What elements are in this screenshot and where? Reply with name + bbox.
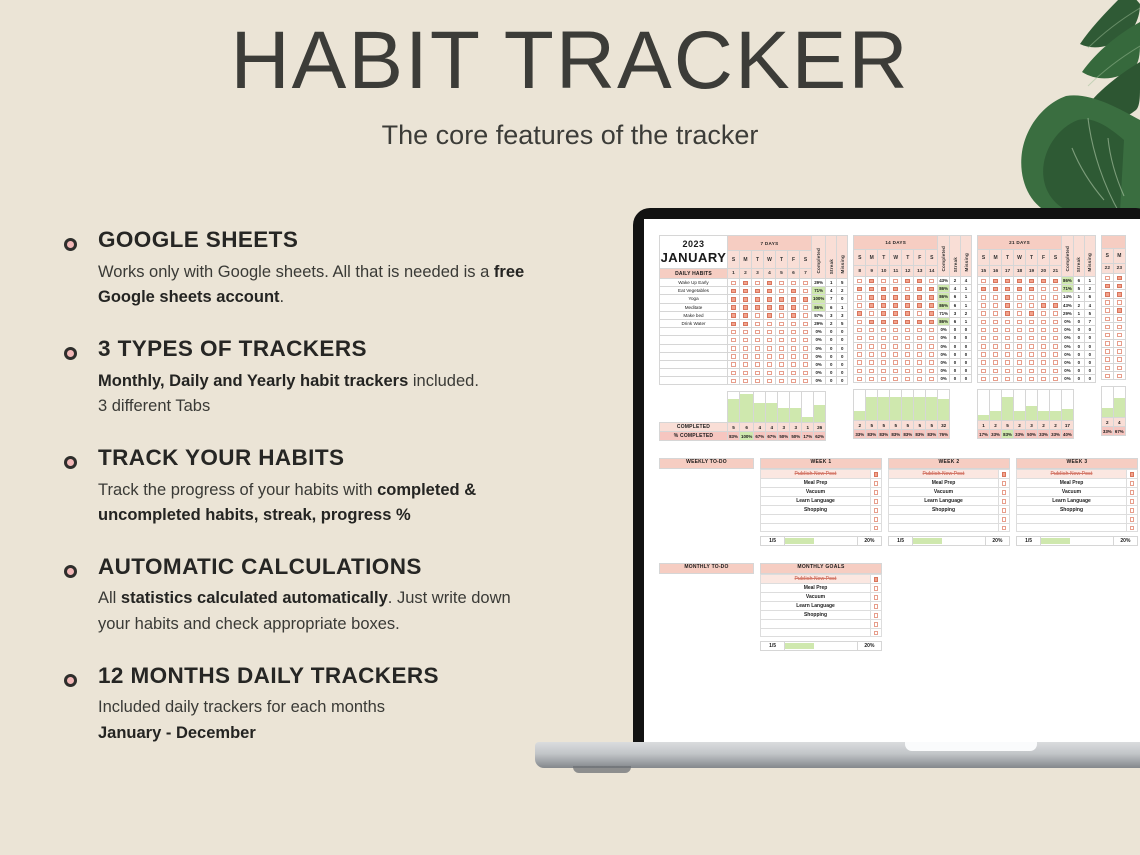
habit-checkbox-cell[interactable] xyxy=(1101,314,1113,322)
checkbox-icon[interactable] xyxy=(917,295,922,300)
habit-checkbox-cell[interactable] xyxy=(788,279,800,287)
habit-checkbox-cell[interactable] xyxy=(728,311,740,319)
checkbox-icon[interactable] xyxy=(1105,366,1110,371)
checkbox-icon[interactable] xyxy=(791,297,796,302)
habit-checkbox-cell[interactable] xyxy=(1002,326,1014,334)
habit-checkbox-cell[interactable] xyxy=(1002,285,1014,293)
checkbox-icon[interactable] xyxy=(1005,328,1010,333)
checkbox-icon[interactable] xyxy=(929,295,934,300)
habit-checkbox-cell[interactable] xyxy=(728,287,740,295)
checkbox-icon[interactable] xyxy=(1105,325,1110,330)
checkbox-icon[interactable] xyxy=(791,379,796,384)
checkbox-icon[interactable] xyxy=(1117,284,1122,289)
habit-checkbox-cell[interactable] xyxy=(776,295,788,303)
habit-checkbox-cell[interactable] xyxy=(1002,375,1014,383)
habit-checkbox-cell[interactable] xyxy=(990,293,1002,301)
habit-checkbox-cell[interactable] xyxy=(776,352,788,360)
habit-checkbox-cell[interactable] xyxy=(752,328,764,336)
checkbox-icon[interactable] xyxy=(767,289,772,294)
habit-checkbox-cell[interactable] xyxy=(776,369,788,377)
checkbox-icon[interactable] xyxy=(755,346,760,351)
checkbox-icon[interactable] xyxy=(1053,369,1058,374)
habit-checkbox-cell[interactable] xyxy=(740,319,752,327)
checkbox-icon[interactable] xyxy=(905,287,910,292)
habit-checkbox-cell[interactable] xyxy=(1002,367,1014,375)
checkbox-icon[interactable] xyxy=(881,295,886,300)
checkbox-icon[interactable] xyxy=(874,508,879,513)
habit-checkbox-cell[interactable] xyxy=(1014,285,1026,293)
checkbox-icon[interactable] xyxy=(869,320,874,325)
checkbox-icon[interactable] xyxy=(993,295,998,300)
habit-checkbox-cell[interactable] xyxy=(1014,277,1026,285)
checkbox-icon[interactable] xyxy=(803,354,808,359)
checkbox-icon[interactable] xyxy=(1029,295,1034,300)
habit-checkbox-cell[interactable] xyxy=(1050,358,1062,366)
checkbox-icon[interactable] xyxy=(1053,311,1058,316)
habit-checkbox-cell[interactable] xyxy=(914,326,926,334)
checkbox-icon[interactable] xyxy=(1017,369,1022,374)
habit-checkbox-cell[interactable] xyxy=(788,287,800,295)
habit-checkbox-cell[interactable] xyxy=(764,336,776,344)
todo-item-text[interactable]: Meal Prep xyxy=(761,584,871,593)
habit-checkbox-cell[interactable] xyxy=(728,295,740,303)
todo-item-empty[interactable] xyxy=(761,620,871,629)
habit-checkbox-cell[interactable] xyxy=(800,369,812,377)
checkbox-icon[interactable] xyxy=(893,303,898,308)
habit-checkbox-cell[interactable] xyxy=(740,352,752,360)
habit-checkbox-cell[interactable] xyxy=(764,303,776,311)
habit-checkbox-cell[interactable] xyxy=(1113,339,1125,347)
checkbox-icon[interactable] xyxy=(857,295,862,300)
checkbox-icon[interactable] xyxy=(1053,303,1058,308)
habit-checkbox-cell[interactable] xyxy=(1026,334,1038,342)
habit-checkbox-cell[interactable] xyxy=(914,358,926,366)
habit-checkbox-cell[interactable] xyxy=(1038,309,1050,317)
checkbox-icon[interactable] xyxy=(1017,360,1022,365)
checkbox-icon[interactable] xyxy=(857,287,862,292)
habit-checkbox-cell[interactable] xyxy=(926,301,938,309)
checkbox-icon[interactable] xyxy=(791,330,796,335)
todo-item-empty[interactable] xyxy=(1017,515,1127,524)
checkbox-icon[interactable] xyxy=(743,289,748,294)
habit-checkbox-cell[interactable] xyxy=(878,326,890,334)
checkbox-icon[interactable] xyxy=(893,320,898,325)
checkbox-icon[interactable] xyxy=(755,330,760,335)
checkbox-icon[interactable] xyxy=(893,287,898,292)
todo-checkbox-cell[interactable] xyxy=(999,515,1010,524)
checkbox-icon[interactable] xyxy=(929,360,934,365)
habit-checkbox-cell[interactable] xyxy=(1101,323,1113,331)
habit-checkbox-cell[interactable] xyxy=(978,342,990,350)
habit-checkbox-cell[interactable] xyxy=(878,277,890,285)
checkbox-icon[interactable] xyxy=(869,369,874,374)
todo-item-text[interactable]: Vacuum xyxy=(761,593,871,602)
habit-checkbox-cell[interactable] xyxy=(1002,334,1014,342)
habit-checkbox-cell[interactable] xyxy=(890,317,902,325)
habit-checkbox-cell[interactable] xyxy=(776,344,788,352)
checkbox-icon[interactable] xyxy=(1017,279,1022,284)
habit-checkbox-cell[interactable] xyxy=(1038,301,1050,309)
todo-checkbox-cell[interactable] xyxy=(871,497,882,506)
checkbox-icon[interactable] xyxy=(755,362,760,367)
checkbox-icon[interactable] xyxy=(1041,369,1046,374)
checkbox-icon[interactable] xyxy=(893,336,898,341)
todo-item-text[interactable]: Meal Prep xyxy=(1017,479,1127,488)
habit-checkbox-cell[interactable] xyxy=(1038,375,1050,383)
checkbox-icon[interactable] xyxy=(779,313,784,318)
checkbox-icon[interactable] xyxy=(881,377,886,382)
checkbox-icon[interactable] xyxy=(755,305,760,310)
habit-name-empty[interactable] xyxy=(660,328,728,336)
checkbox-icon[interactable] xyxy=(1029,369,1034,374)
checkbox-icon[interactable] xyxy=(893,352,898,357)
habit-checkbox-cell[interactable] xyxy=(764,360,776,368)
habit-checkbox-cell[interactable] xyxy=(854,367,866,375)
checkbox-icon[interactable] xyxy=(755,354,760,359)
checkbox-icon[interactable] xyxy=(1002,490,1007,495)
habit-checkbox-cell[interactable] xyxy=(1026,358,1038,366)
habit-checkbox-cell[interactable] xyxy=(914,293,926,301)
habit-checkbox-cell[interactable] xyxy=(740,328,752,336)
checkbox-icon[interactable] xyxy=(857,320,862,325)
habit-checkbox-cell[interactable] xyxy=(866,277,878,285)
habit-checkbox-cell[interactable] xyxy=(1014,342,1026,350)
checkbox-icon[interactable] xyxy=(1130,490,1135,495)
checkbox-icon[interactable] xyxy=(1053,352,1058,357)
habit-checkbox-cell[interactable] xyxy=(1026,367,1038,375)
checkbox-icon[interactable] xyxy=(929,303,934,308)
checkbox-icon[interactable] xyxy=(731,354,736,359)
checkbox-icon[interactable] xyxy=(731,322,736,327)
habit-checkbox-cell[interactable] xyxy=(776,319,788,327)
habit-checkbox-cell[interactable] xyxy=(1026,375,1038,383)
habit-checkbox-cell[interactable] xyxy=(728,377,740,385)
checkbox-icon[interactable] xyxy=(1029,360,1034,365)
habit-checkbox-cell[interactable] xyxy=(926,358,938,366)
checkbox-icon[interactable] xyxy=(1053,344,1058,349)
checkbox-icon[interactable] xyxy=(767,297,772,302)
habit-checkbox-cell[interactable] xyxy=(1050,301,1062,309)
checkbox-icon[interactable] xyxy=(731,330,736,335)
todo-item-text[interactable]: Meal Prep xyxy=(761,479,871,488)
habit-checkbox-cell[interactable] xyxy=(740,279,752,287)
checkbox-icon[interactable] xyxy=(993,336,998,341)
checkbox-icon[interactable] xyxy=(731,281,736,286)
checkbox-icon[interactable] xyxy=(767,354,772,359)
checkbox-icon[interactable] xyxy=(869,279,874,284)
habit-checkbox-cell[interactable] xyxy=(914,350,926,358)
habit-checkbox-cell[interactable] xyxy=(890,334,902,342)
habit-checkbox-cell[interactable] xyxy=(1038,293,1050,301)
todo-checkbox-cell[interactable] xyxy=(871,593,882,602)
checkbox-icon[interactable] xyxy=(803,305,808,310)
checkbox-icon[interactable] xyxy=(1053,320,1058,325)
habit-checkbox-cell[interactable] xyxy=(890,326,902,334)
checkbox-icon[interactable] xyxy=(1005,344,1010,349)
checkbox-icon[interactable] xyxy=(905,328,910,333)
checkbox-icon[interactable] xyxy=(1041,303,1046,308)
checkbox-icon[interactable] xyxy=(767,379,772,384)
checkbox-icon[interactable] xyxy=(731,362,736,367)
checkbox-icon[interactable] xyxy=(869,303,874,308)
habit-checkbox-cell[interactable] xyxy=(878,350,890,358)
habit-checkbox-cell[interactable] xyxy=(752,319,764,327)
habit-checkbox-cell[interactable] xyxy=(1101,339,1113,347)
checkbox-icon[interactable] xyxy=(1029,320,1034,325)
checkbox-icon[interactable] xyxy=(1041,311,1046,316)
checkbox-icon[interactable] xyxy=(1029,287,1034,292)
checkbox-icon[interactable] xyxy=(881,344,886,349)
checkbox-icon[interactable] xyxy=(1053,360,1058,365)
checkbox-icon[interactable] xyxy=(743,281,748,286)
habit-checkbox-cell[interactable] xyxy=(800,295,812,303)
habit-checkbox-cell[interactable] xyxy=(752,287,764,295)
todo-checkbox-cell[interactable] xyxy=(1127,515,1138,524)
checkbox-icon[interactable] xyxy=(929,344,934,349)
checkbox-icon[interactable] xyxy=(993,377,998,382)
habit-checkbox-cell[interactable] xyxy=(1014,334,1026,342)
habit-checkbox-cell[interactable] xyxy=(854,342,866,350)
habit-checkbox-cell[interactable] xyxy=(800,377,812,385)
habit-checkbox-cell[interactable] xyxy=(1113,282,1125,290)
habit-checkbox-cell[interactable] xyxy=(740,344,752,352)
checkbox-icon[interactable] xyxy=(791,354,796,359)
habit-checkbox-cell[interactable] xyxy=(1113,323,1125,331)
habit-checkbox-cell[interactable] xyxy=(914,375,926,383)
todo-item-text[interactable]: Learn Language xyxy=(889,497,999,506)
habit-checkbox-cell[interactable] xyxy=(1014,375,1026,383)
habit-checkbox-cell[interactable] xyxy=(752,344,764,352)
todo-checkbox-cell[interactable] xyxy=(999,470,1010,479)
checkbox-icon[interactable] xyxy=(981,360,986,365)
checkbox-icon[interactable] xyxy=(929,279,934,284)
checkbox-icon[interactable] xyxy=(993,344,998,349)
habit-checkbox-cell[interactable] xyxy=(926,309,938,317)
habit-checkbox-cell[interactable] xyxy=(752,295,764,303)
habit-checkbox-cell[interactable] xyxy=(902,326,914,334)
checkbox-icon[interactable] xyxy=(1105,308,1110,313)
checkbox-icon[interactable] xyxy=(743,305,748,310)
habit-checkbox-cell[interactable] xyxy=(914,367,926,375)
todo-checkbox-cell[interactable] xyxy=(1127,479,1138,488)
checkbox-icon[interactable] xyxy=(1117,317,1122,322)
checkbox-icon[interactable] xyxy=(1029,377,1034,382)
habit-checkbox-cell[interactable] xyxy=(1038,285,1050,293)
habit-checkbox-cell[interactable] xyxy=(728,279,740,287)
checkbox-icon[interactable] xyxy=(803,338,808,343)
todo-checkbox-cell[interactable] xyxy=(871,506,882,515)
habit-checkbox-cell[interactable] xyxy=(1101,355,1113,363)
checkbox-icon[interactable] xyxy=(1005,369,1010,374)
habit-name-empty[interactable] xyxy=(660,352,728,360)
habit-checkbox-cell[interactable] xyxy=(902,293,914,301)
checkbox-icon[interactable] xyxy=(993,303,998,308)
checkbox-icon[interactable] xyxy=(767,362,772,367)
habit-checkbox-cell[interactable] xyxy=(866,301,878,309)
checkbox-icon[interactable] xyxy=(803,313,808,318)
checkbox-icon[interactable] xyxy=(1002,481,1007,486)
checkbox-icon[interactable] xyxy=(881,369,886,374)
checkbox-icon[interactable] xyxy=(731,297,736,302)
habit-checkbox-cell[interactable] xyxy=(890,342,902,350)
checkbox-icon[interactable] xyxy=(993,311,998,316)
checkbox-icon[interactable] xyxy=(1053,279,1058,284)
habit-checkbox-cell[interactable] xyxy=(788,344,800,352)
habit-checkbox-cell[interactable] xyxy=(990,301,1002,309)
checkbox-icon[interactable] xyxy=(1017,336,1022,341)
habit-checkbox-cell[interactable] xyxy=(914,317,926,325)
todo-item-text[interactable]: Publish New Post xyxy=(889,470,999,479)
checkbox-icon[interactable] xyxy=(1117,292,1122,297)
checkbox-icon[interactable] xyxy=(803,281,808,286)
checkbox-icon[interactable] xyxy=(1117,333,1122,338)
checkbox-icon[interactable] xyxy=(981,320,986,325)
habit-checkbox-cell[interactable] xyxy=(752,311,764,319)
habit-checkbox-cell[interactable] xyxy=(800,352,812,360)
checkbox-icon[interactable] xyxy=(981,377,986,382)
habit-checkbox-cell[interactable] xyxy=(1038,358,1050,366)
checkbox-icon[interactable] xyxy=(981,352,986,357)
checkbox-icon[interactable] xyxy=(1005,377,1010,382)
checkbox-icon[interactable] xyxy=(791,346,796,351)
habit-checkbox-cell[interactable] xyxy=(1113,355,1125,363)
todo-checkbox-cell[interactable] xyxy=(999,523,1010,532)
checkbox-icon[interactable] xyxy=(1017,328,1022,333)
checkbox-icon[interactable] xyxy=(1130,526,1135,531)
checkbox-icon[interactable] xyxy=(1041,287,1046,292)
habit-checkbox-cell[interactable] xyxy=(764,377,776,385)
checkbox-icon[interactable] xyxy=(874,472,879,477)
checkbox-icon[interactable] xyxy=(929,369,934,374)
checkbox-icon[interactable] xyxy=(874,517,879,522)
habit-checkbox-cell[interactable] xyxy=(854,285,866,293)
habit-checkbox-cell[interactable] xyxy=(854,301,866,309)
checkbox-icon[interactable] xyxy=(779,305,784,310)
checkbox-icon[interactable] xyxy=(791,371,796,376)
habit-checkbox-cell[interactable] xyxy=(990,317,1002,325)
habit-checkbox-cell[interactable] xyxy=(990,326,1002,334)
habit-checkbox-cell[interactable] xyxy=(752,303,764,311)
checkbox-icon[interactable] xyxy=(779,354,784,359)
checkbox-icon[interactable] xyxy=(869,344,874,349)
habit-checkbox-cell[interactable] xyxy=(764,352,776,360)
habit-checkbox-cell[interactable] xyxy=(1113,347,1125,355)
habit-checkbox-cell[interactable] xyxy=(978,350,990,358)
checkbox-icon[interactable] xyxy=(981,336,986,341)
checkbox-icon[interactable] xyxy=(1105,284,1110,289)
habit-checkbox-cell[interactable] xyxy=(926,277,938,285)
checkbox-icon[interactable] xyxy=(893,360,898,365)
checkbox-icon[interactable] xyxy=(731,289,736,294)
habit-checkbox-cell[interactable] xyxy=(854,309,866,317)
habit-checkbox-cell[interactable] xyxy=(990,309,1002,317)
habit-checkbox-cell[interactable] xyxy=(728,336,740,344)
habit-checkbox-cell[interactable] xyxy=(926,317,938,325)
checkbox-icon[interactable] xyxy=(1130,472,1135,477)
habit-checkbox-cell[interactable] xyxy=(990,277,1002,285)
checkbox-icon[interactable] xyxy=(869,336,874,341)
habit-checkbox-cell[interactable] xyxy=(978,334,990,342)
habit-checkbox-cell[interactable] xyxy=(788,311,800,319)
habit-checkbox-cell[interactable] xyxy=(926,342,938,350)
checkbox-icon[interactable] xyxy=(731,371,736,376)
checkbox-icon[interactable] xyxy=(917,279,922,284)
checkbox-icon[interactable] xyxy=(874,490,879,495)
checkbox-icon[interactable] xyxy=(917,369,922,374)
checkbox-icon[interactable] xyxy=(874,613,879,618)
habit-checkbox-cell[interactable] xyxy=(854,317,866,325)
habit-checkbox-cell[interactable] xyxy=(776,336,788,344)
habit-checkbox-cell[interactable] xyxy=(788,328,800,336)
habit-checkbox-cell[interactable] xyxy=(1050,285,1062,293)
habit-checkbox-cell[interactable] xyxy=(1050,334,1062,342)
checkbox-icon[interactable] xyxy=(993,369,998,374)
checkbox-icon[interactable] xyxy=(1005,320,1010,325)
habit-checkbox-cell[interactable] xyxy=(776,377,788,385)
checkbox-icon[interactable] xyxy=(905,336,910,341)
checkbox-icon[interactable] xyxy=(905,320,910,325)
habit-checkbox-cell[interactable] xyxy=(890,277,902,285)
todo-item-text[interactable]: Learn Language xyxy=(761,497,871,506)
todo-item-empty[interactable] xyxy=(889,523,999,532)
checkbox-icon[interactable] xyxy=(881,287,886,292)
checkbox-icon[interactable] xyxy=(929,320,934,325)
checkbox-icon[interactable] xyxy=(1017,287,1022,292)
checkbox-icon[interactable] xyxy=(881,320,886,325)
habit-checkbox-cell[interactable] xyxy=(854,350,866,358)
habit-checkbox-cell[interactable] xyxy=(1050,350,1062,358)
habit-checkbox-cell[interactable] xyxy=(1002,301,1014,309)
checkbox-icon[interactable] xyxy=(779,330,784,335)
habit-checkbox-cell[interactable] xyxy=(1026,293,1038,301)
habit-checkbox-cell[interactable] xyxy=(890,367,902,375)
checkbox-icon[interactable] xyxy=(857,279,862,284)
habit-checkbox-cell[interactable] xyxy=(788,295,800,303)
habit-checkbox-cell[interactable] xyxy=(1101,274,1113,282)
habit-checkbox-cell[interactable] xyxy=(878,367,890,375)
habit-checkbox-cell[interactable] xyxy=(1026,317,1038,325)
habit-name-empty[interactable] xyxy=(660,377,728,385)
habit-checkbox-cell[interactable] xyxy=(1101,372,1113,380)
habit-checkbox-cell[interactable] xyxy=(878,375,890,383)
checkbox-icon[interactable] xyxy=(917,303,922,308)
todo-item-empty[interactable] xyxy=(889,515,999,524)
checkbox-icon[interactable] xyxy=(767,281,772,286)
checkbox-icon[interactable] xyxy=(791,338,796,343)
checkbox-icon[interactable] xyxy=(1041,360,1046,365)
habit-checkbox-cell[interactable] xyxy=(740,303,752,311)
checkbox-icon[interactable] xyxy=(791,362,796,367)
habit-checkbox-cell[interactable] xyxy=(854,375,866,383)
checkbox-icon[interactable] xyxy=(743,362,748,367)
todo-checkbox-cell[interactable] xyxy=(871,479,882,488)
checkbox-icon[interactable] xyxy=(803,362,808,367)
habit-checkbox-cell[interactable] xyxy=(926,350,938,358)
habit-checkbox-cell[interactable] xyxy=(1026,326,1038,334)
habit-checkbox-cell[interactable] xyxy=(1002,342,1014,350)
habit-checkbox-cell[interactable] xyxy=(1101,364,1113,372)
checkbox-icon[interactable] xyxy=(929,336,934,341)
habit-checkbox-cell[interactable] xyxy=(926,334,938,342)
checkbox-icon[interactable] xyxy=(905,311,910,316)
habit-checkbox-cell[interactable] xyxy=(854,326,866,334)
checkbox-icon[interactable] xyxy=(1105,300,1110,305)
habit-checkbox-cell[interactable] xyxy=(914,301,926,309)
habit-checkbox-cell[interactable] xyxy=(740,336,752,344)
habit-checkbox-cell[interactable] xyxy=(1014,309,1026,317)
habit-checkbox-cell[interactable] xyxy=(788,360,800,368)
todo-checkbox-cell[interactable] xyxy=(871,515,882,524)
